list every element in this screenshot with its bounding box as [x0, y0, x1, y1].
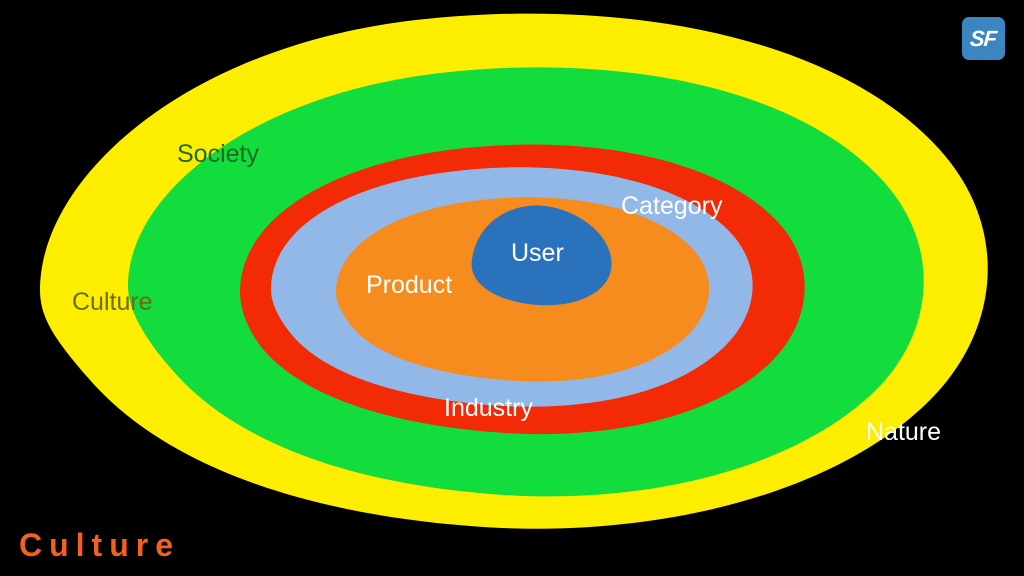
- page-title: Culture: [19, 527, 180, 564]
- nested-layers-svg: [0, 0, 1024, 576]
- sf-logo[interactable]: SF: [962, 17, 1005, 60]
- sf-logo-text: SF: [970, 28, 998, 50]
- diagram-canvas: Culture Society Industry Category Produc…: [0, 0, 1024, 576]
